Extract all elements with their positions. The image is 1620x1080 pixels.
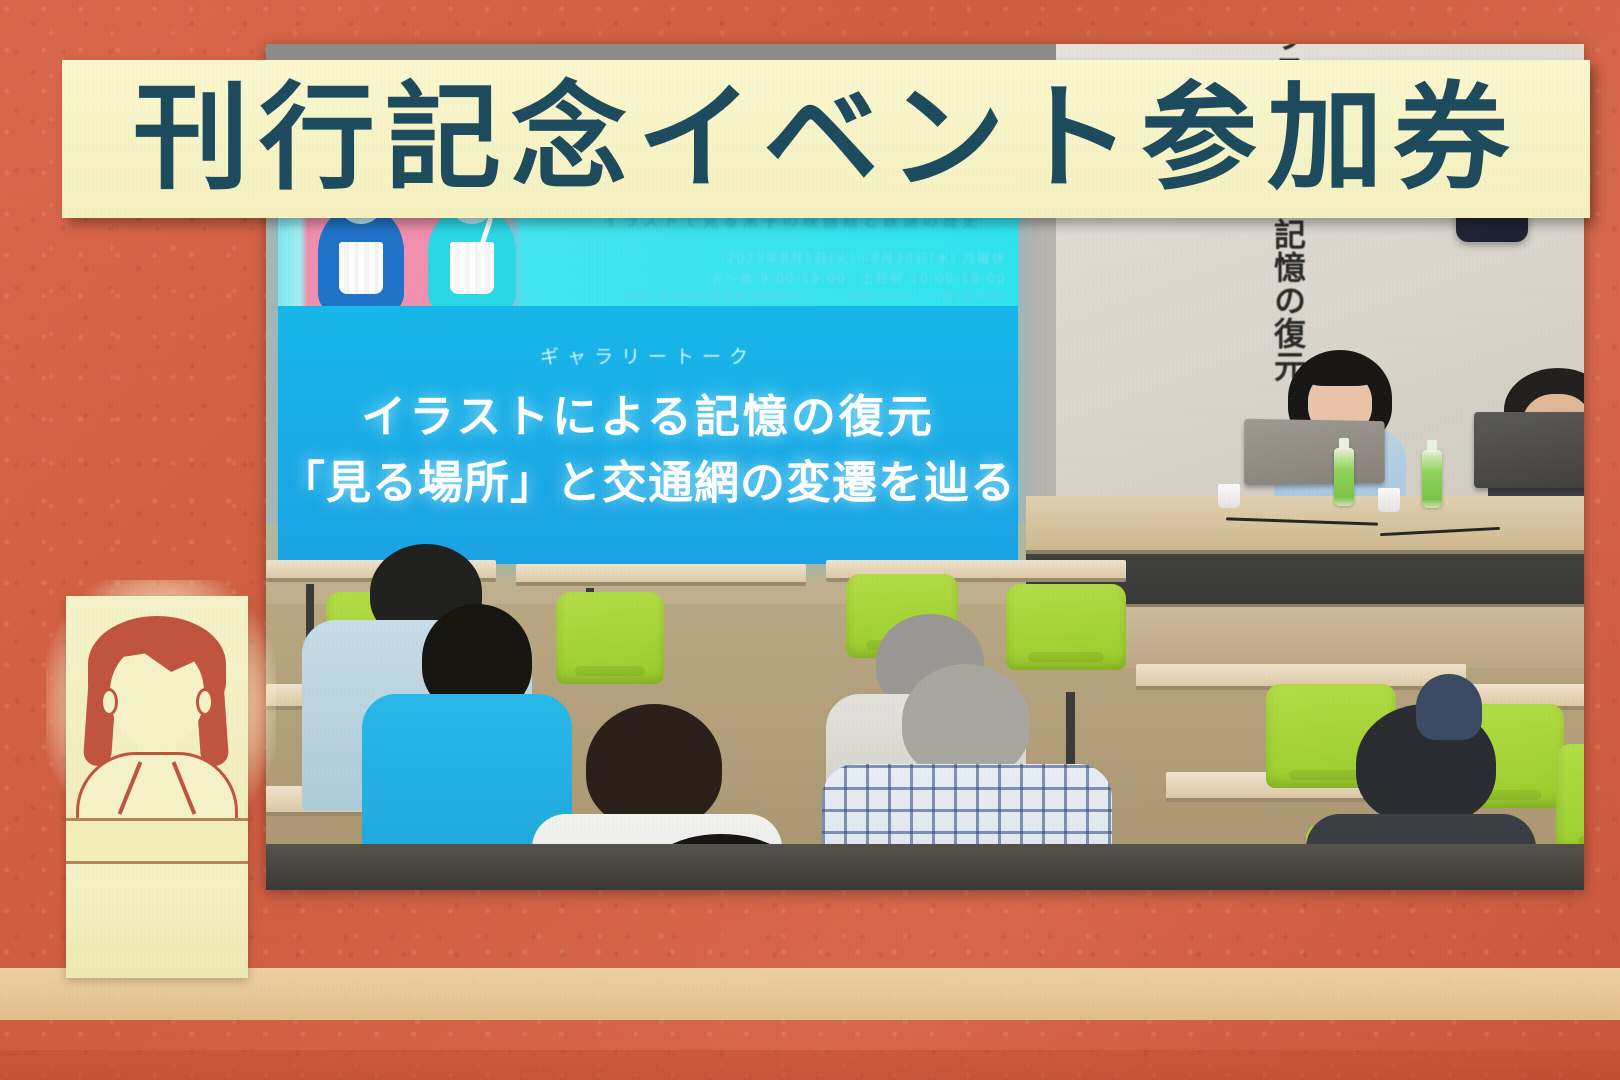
chair <box>1556 744 1584 854</box>
slide-title-line2: 「見る場所」と交通網の変遷を辿る <box>278 446 1018 511</box>
cap-icon <box>1416 674 1482 740</box>
slide-title-line1: イラストによる記憶の復元 <box>278 380 1018 445</box>
ticket-title-banner: 刊行記念イベント参加券 <box>62 60 1590 218</box>
audience-head <box>902 664 1030 778</box>
slide-kicker: ギャラリートーク <box>278 342 1018 369</box>
poster-figure-right <box>428 208 516 306</box>
audience-head <box>586 704 722 828</box>
laptop-icon <box>1474 412 1584 488</box>
speaker-at-podium-illustration <box>66 600 248 830</box>
popcorn-cup-icon <box>339 242 383 294</box>
laptop-icon <box>1244 419 1384 485</box>
event-ticket: 見る場所を見る2＋ イラストで見る米子の映画館と鉄道の歴史 2023年8月1日(… <box>0 0 1620 1080</box>
green-tea-bottle <box>1422 450 1442 508</box>
slide-content: ギャラリートーク イラストによる記憶の復元 「見る場所」と交通網の変遷を辿る <box>278 306 1018 564</box>
bottom-edge-stripe <box>0 1050 1620 1080</box>
paper-cup <box>1218 484 1240 508</box>
presenter-table <box>1026 496 1584 554</box>
paper-cup <box>1378 488 1400 512</box>
ticket-title: 刊行記念イベント参加券 <box>133 81 1519 197</box>
illustration-podium-top <box>66 818 248 864</box>
desk <box>516 564 806 586</box>
presenter-bangs <box>1302 356 1378 386</box>
poster-hours: 火〜金 9:00-19:00 土日祝 10:00-18:00 <box>711 268 1006 287</box>
poster-venue: 会場：米子市立図書館 多目的スペース (市民ギャラリー/第1研修室) <box>622 288 1006 304</box>
illustration-podium-body <box>66 864 248 978</box>
chair <box>556 592 664 684</box>
green-tea-bottle <box>1334 448 1354 506</box>
photo-floor <box>266 844 1584 890</box>
poster-figure-left <box>318 208 404 306</box>
illustration-ear-left <box>100 688 118 716</box>
drink-cup-icon <box>450 242 494 294</box>
poster-dates: 2023年8月1日(火)〜8月30日(水) 月曜休 <box>727 248 1006 267</box>
desk-leg <box>1066 692 1075 772</box>
chair <box>1006 584 1126 670</box>
illustration-ear-right <box>196 688 214 716</box>
